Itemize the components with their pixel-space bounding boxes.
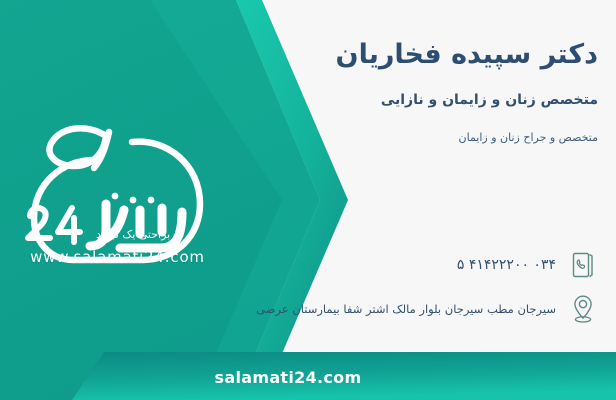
footer-website[interactable]: salamati24.com	[0, 368, 616, 387]
card-info-panel: دکتر سپیده فخاریان متخصص زنان و زایمان و…	[226, 0, 598, 400]
clinic-address[interactable]: سیرجان مطب سیرجان بلوار مالک اشتر شفا بی…	[226, 301, 556, 317]
business-card: براحتی یک لبخند www.salamati24.com دکتر …	[0, 0, 616, 400]
phone-number[interactable]: ۵ ۴۱۴۲۲۲۰۰ ۰۳۴	[226, 257, 556, 273]
doctor-specialty-secondary: متخصص و جراح زنان و زایمان	[226, 131, 598, 144]
map-pin-icon	[568, 292, 598, 326]
logo-url: www.salamati24.com	[10, 248, 225, 266]
address-row: سیرجان مطب سیرجان بلوار مالک اشتر شفا بی…	[226, 292, 598, 326]
doctor-name: دکتر سپیده فخاریان	[226, 38, 598, 72]
logo-slogan: براحتی یک لبخند	[96, 228, 232, 241]
footer-bar: salamati24.com	[0, 352, 616, 400]
doctor-specialty: متخصص زنان و زایمان و نازایی	[226, 92, 598, 108]
phone-book-icon	[568, 248, 598, 282]
phone-row: ۵ ۴۱۴۲۲۲۰۰ ۰۳۴	[226, 248, 598, 282]
